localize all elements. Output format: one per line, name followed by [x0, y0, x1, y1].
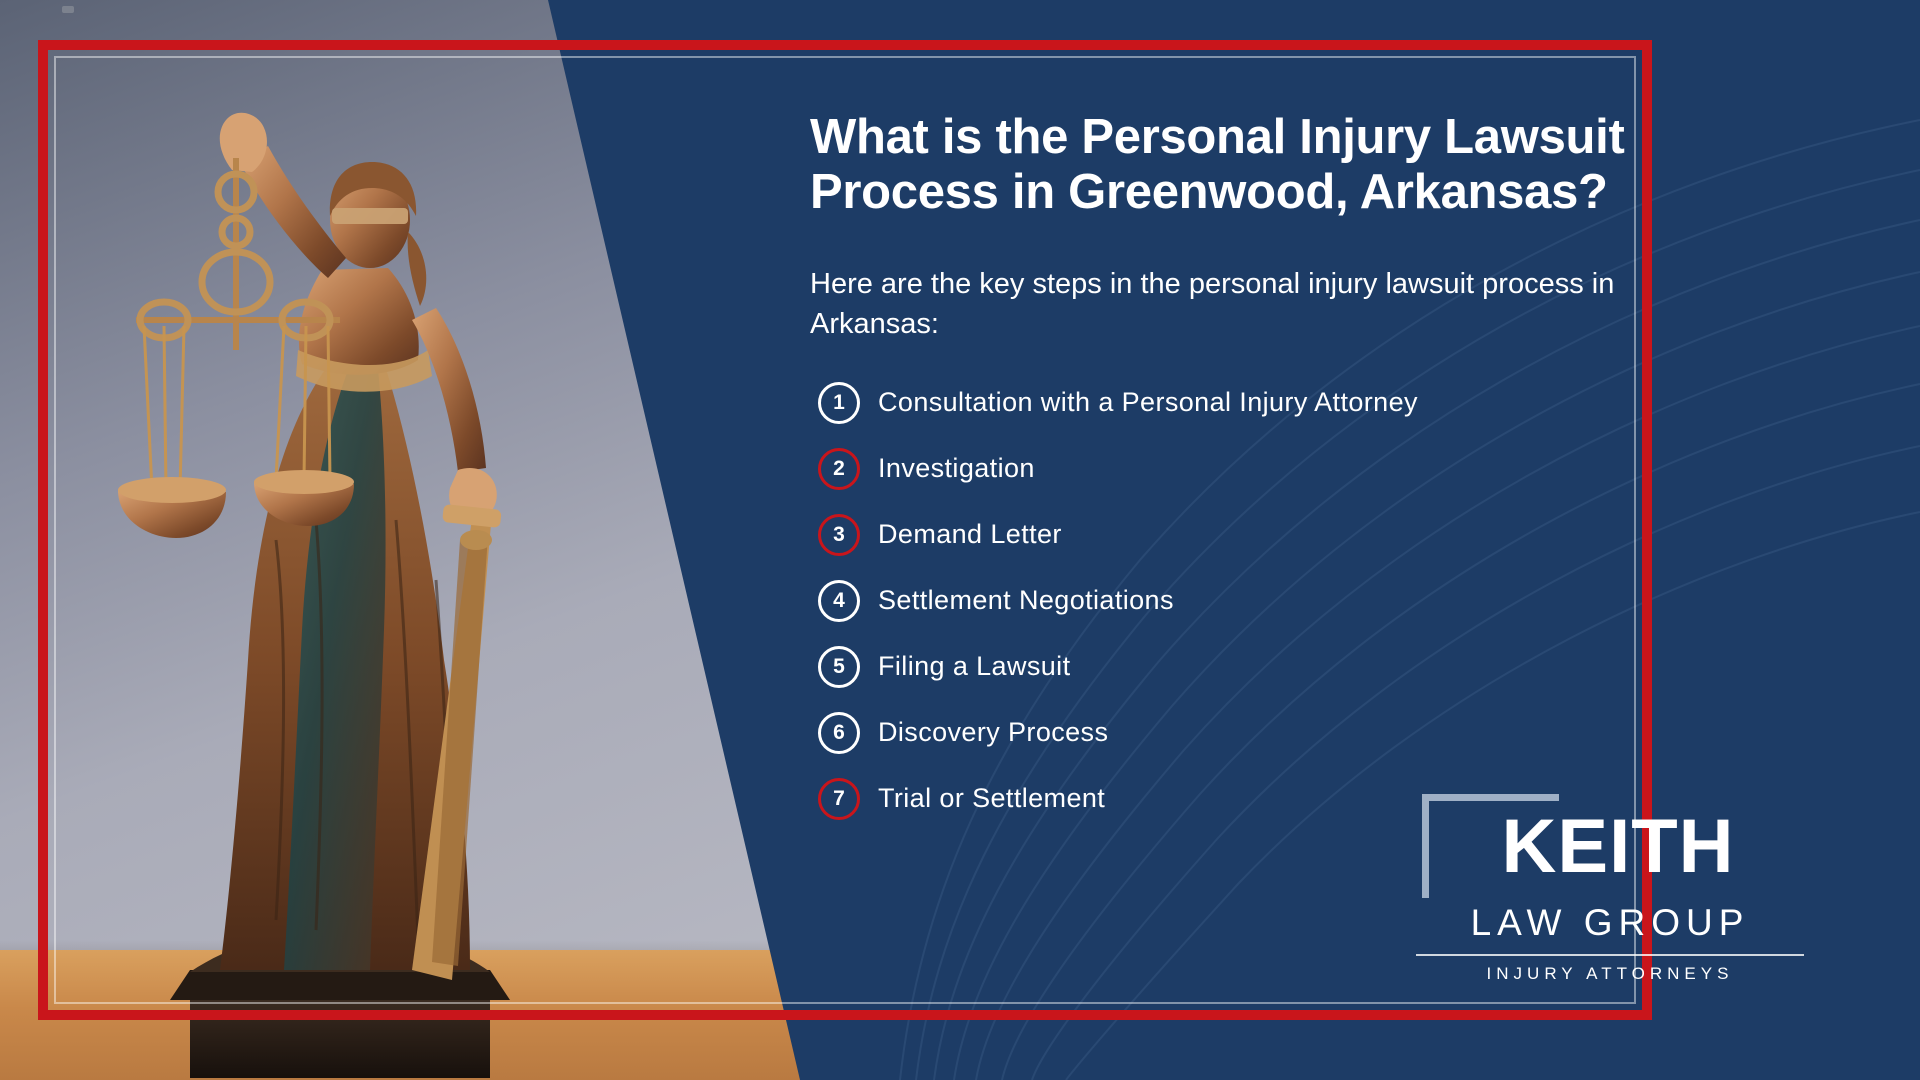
logo-wordmark: KEITH	[1410, 794, 1810, 900]
page-title: What is the Personal Injury Lawsuit Proc…	[810, 110, 1710, 220]
keith-law-group-logo: KEITH LAW GROUP INJURY ATTORNEYS	[1410, 794, 1810, 984]
step-label: Filing a Lawsuit	[878, 651, 1071, 682]
photo-speck	[62, 6, 74, 13]
step-number-badge: 3	[818, 514, 860, 556]
list-item: 6 Discovery Process	[810, 700, 1730, 766]
infographic-canvas: What is the Personal Injury Lawsuit Proc…	[0, 0, 1920, 1080]
step-number-badge: 1	[818, 382, 860, 424]
step-label: Settlement Negotiations	[878, 585, 1174, 616]
step-label: Consultation with a Personal Injury Atto…	[878, 387, 1418, 418]
step-number-badge: 2	[818, 448, 860, 490]
logo-divider	[1416, 954, 1804, 956]
logo-name: KEITH	[1486, 809, 1735, 885]
lady-justice-statue-icon	[40, 20, 660, 1080]
step-number-badge: 4	[818, 580, 860, 622]
text-content-block: What is the Personal Injury Lawsuit Proc…	[810, 110, 1730, 832]
logo-tagline-primary: LAW GROUP	[1410, 902, 1810, 944]
list-item: 5 Filing a Lawsuit	[810, 634, 1730, 700]
step-label: Discovery Process	[878, 717, 1108, 748]
list-item: 4 Settlement Negotiations	[810, 568, 1730, 634]
logo-tagline-secondary: INJURY ATTORNEYS	[1410, 964, 1810, 984]
step-label: Demand Letter	[878, 519, 1062, 550]
list-item: 2 Investigation	[810, 436, 1730, 502]
list-item: 1 Consultation with a Personal Injury At…	[810, 370, 1730, 436]
step-label: Trial or Settlement	[878, 783, 1105, 814]
step-number-badge: 5	[818, 646, 860, 688]
step-label: Investigation	[878, 453, 1035, 484]
subheading: Here are the key steps in the personal i…	[810, 264, 1730, 344]
step-number-badge: 7	[818, 778, 860, 820]
list-item: 3 Demand Letter	[810, 502, 1730, 568]
step-number-badge: 6	[818, 712, 860, 754]
steps-list: 1 Consultation with a Personal Injury At…	[810, 370, 1730, 832]
